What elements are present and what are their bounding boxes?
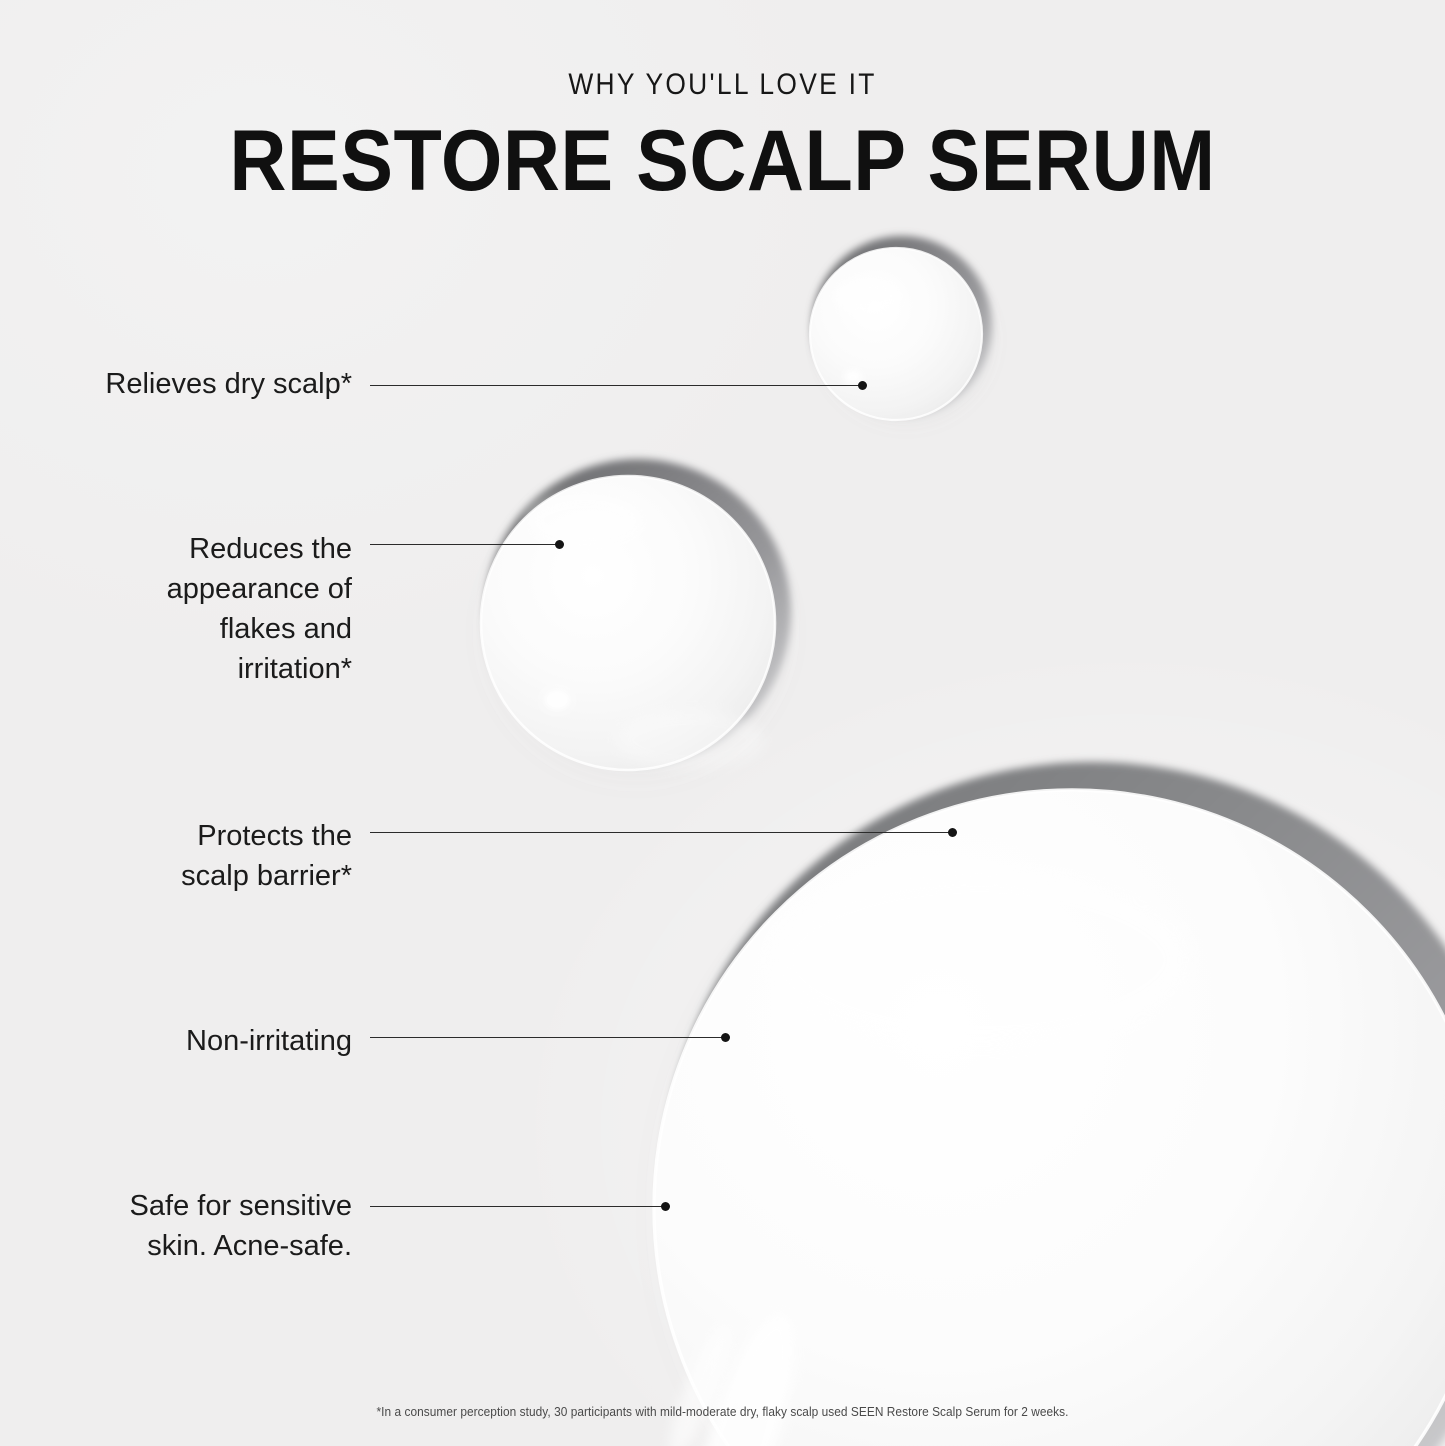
droplet-large-group bbox=[638, 762, 1445, 1446]
leader-dot-safe-sensitive-acne-safe bbox=[661, 1202, 670, 1211]
leader-line-safe-sensitive-acne-safe bbox=[370, 1206, 665, 1207]
droplet-medium-group bbox=[474, 459, 798, 790]
page-title: RESTORE SCALP SERUM bbox=[58, 118, 1387, 204]
leader-line-reduces-flakes-irritation bbox=[370, 544, 559, 545]
leader-dot-reduces-flakes-irritation bbox=[555, 540, 564, 549]
leader-line-non-irritating bbox=[370, 1037, 725, 1038]
benefit-label-protects-scalp-barrier: Protects the scalp barrier* bbox=[0, 816, 352, 896]
leader-line-protects-scalp-barrier bbox=[370, 832, 952, 833]
benefit-label-safe-sensitive-acne-safe: Safe for sensitive skin. Acne-safe. bbox=[0, 1186, 352, 1266]
leader-dot-protects-scalp-barrier bbox=[948, 828, 957, 837]
benefit-label-reduces-flakes-irritation: Reduces the appearance of flakes and irr… bbox=[0, 529, 352, 689]
infographic-canvas: WHY YOU'LL LOVE IT RESTORE SCALP SERUM R… bbox=[0, 0, 1445, 1446]
study-footnote: *In a consumer perception study, 30 part… bbox=[36, 1405, 1409, 1420]
eyebrow-heading: WHY YOU'LL LOVE IT bbox=[87, 70, 1359, 100]
benefit-label-non-irritating: Non-irritating bbox=[0, 1021, 352, 1061]
leader-line-relieves-dry-scalp bbox=[370, 385, 862, 386]
benefit-label-relieves-dry-scalp: Relieves dry scalp* bbox=[0, 364, 352, 404]
leader-dot-relieves-dry-scalp bbox=[858, 381, 867, 390]
droplet-small-group bbox=[810, 236, 1002, 434]
leader-dot-non-irritating bbox=[721, 1033, 730, 1042]
